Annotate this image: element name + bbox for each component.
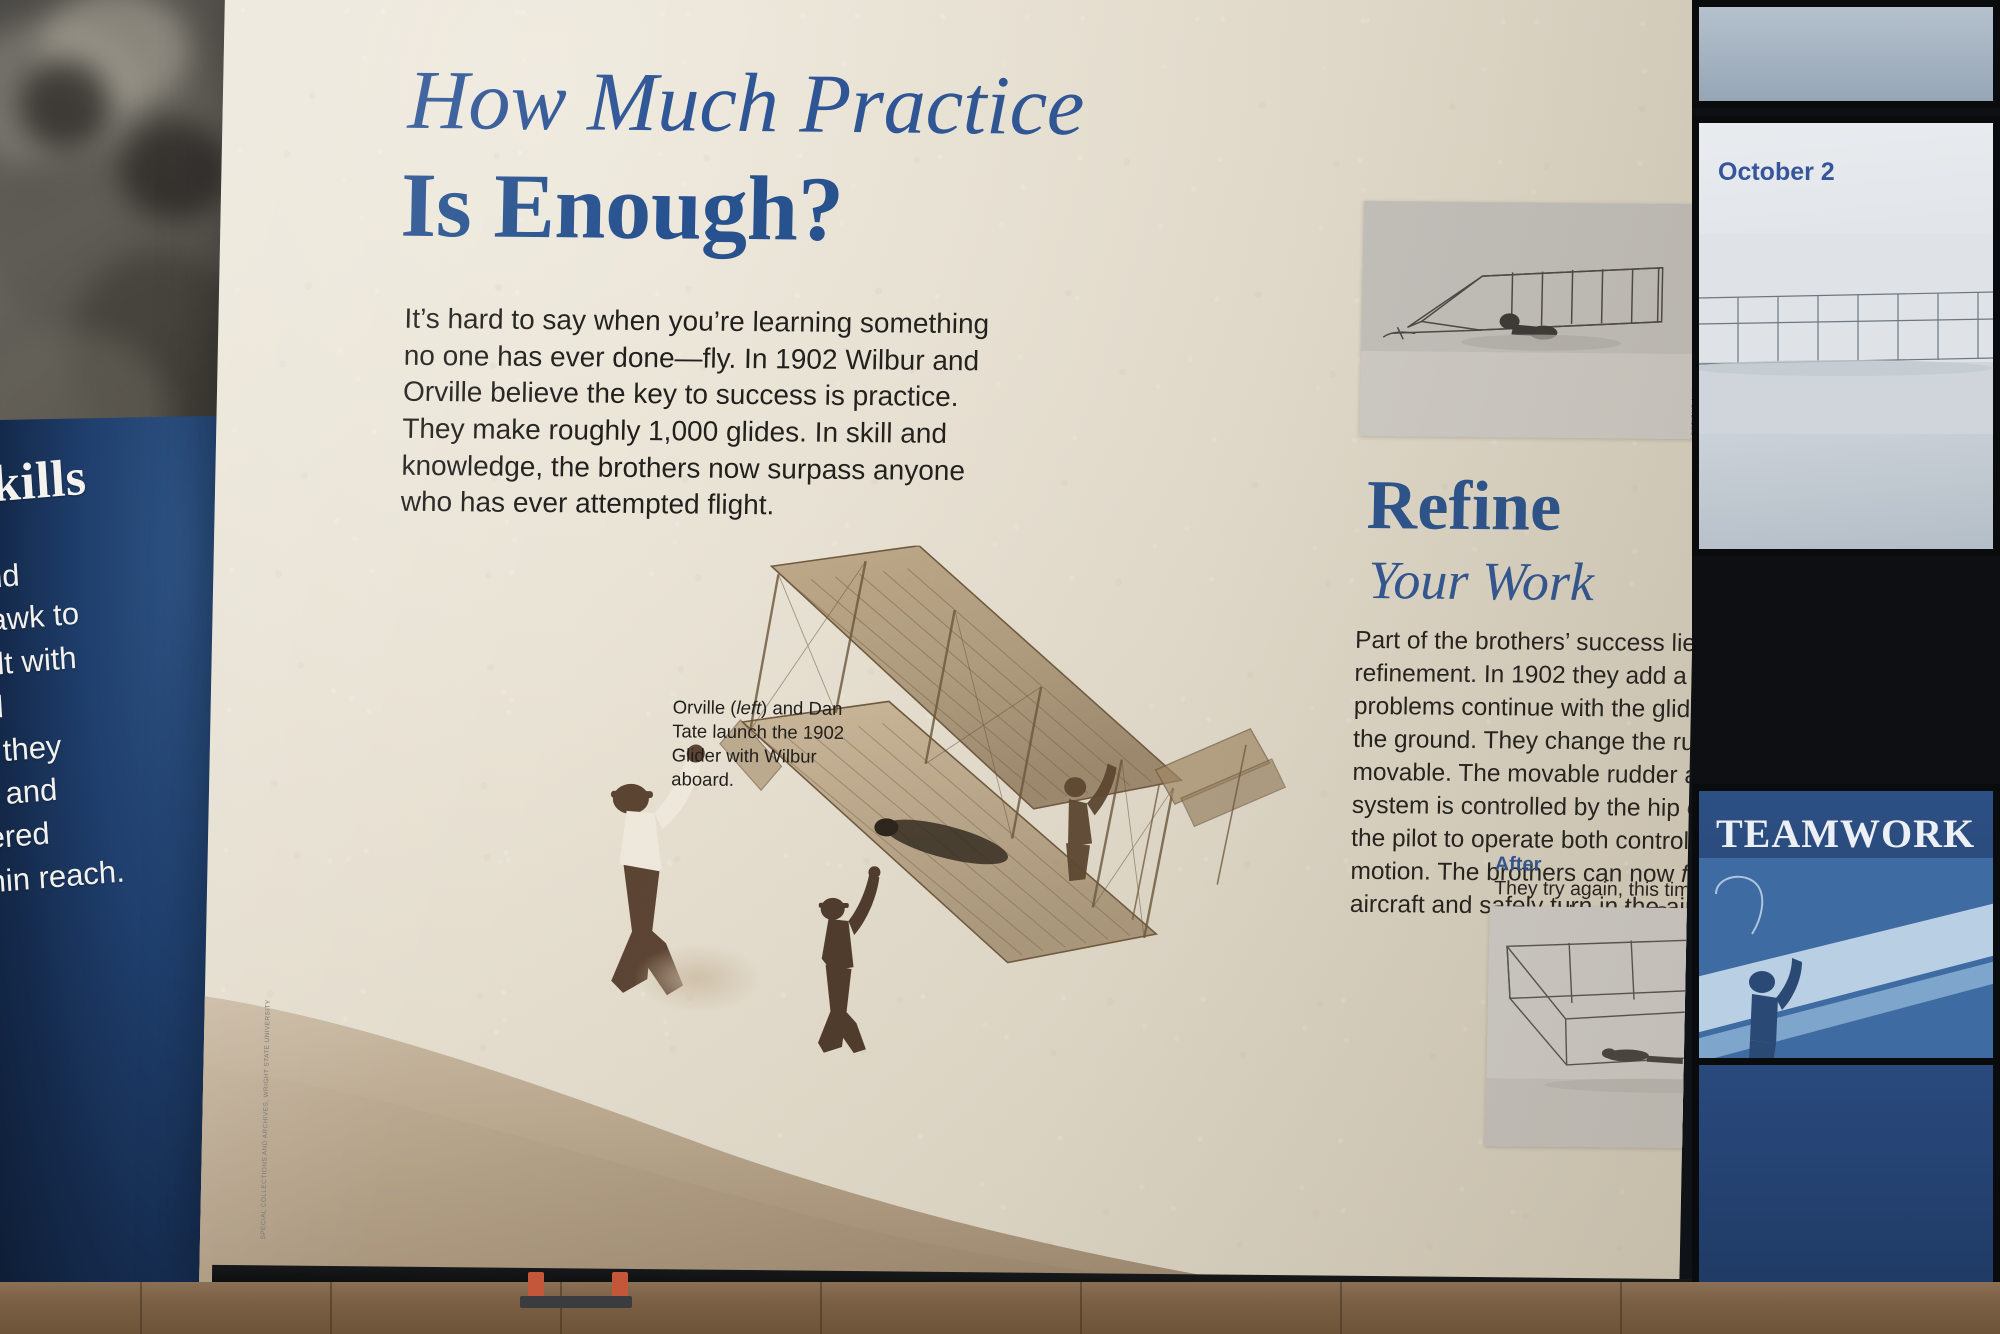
right-panel-october-2: October 2 bbox=[1692, 116, 2000, 556]
panel-frame bbox=[1692, 116, 2000, 556]
left-banner-title: r Skills bbox=[0, 441, 217, 517]
panel-floor-bracket bbox=[528, 1272, 544, 1298]
panel-frame bbox=[1692, 0, 2000, 108]
panel-floor-bracket bbox=[612, 1272, 628, 1298]
exhibit-photo-scene: r Skills ur and ty Hawk to r built with … bbox=[0, 0, 2000, 1334]
left-banner-body: ur and ty Hawk to r built with wind . As… bbox=[0, 537, 228, 907]
panel-lighting-overlay bbox=[199, 0, 1705, 1313]
main-exhibit-panel-wrapper: How Much Practice Is Enough? It’s hard t… bbox=[212, 0, 1692, 1316]
right-wall: October 2 TEAMWORK bbox=[1692, 0, 2000, 1334]
wood-floor bbox=[0, 1282, 2000, 1334]
left-blue-banner: r Skills ur and ty Hawk to r built with … bbox=[0, 416, 228, 1334]
panel-floor-base bbox=[520, 1296, 632, 1308]
right-panel-top bbox=[1692, 0, 2000, 108]
main-exhibit-panel: How Much Practice Is Enough? It’s hard t… bbox=[199, 0, 1705, 1313]
